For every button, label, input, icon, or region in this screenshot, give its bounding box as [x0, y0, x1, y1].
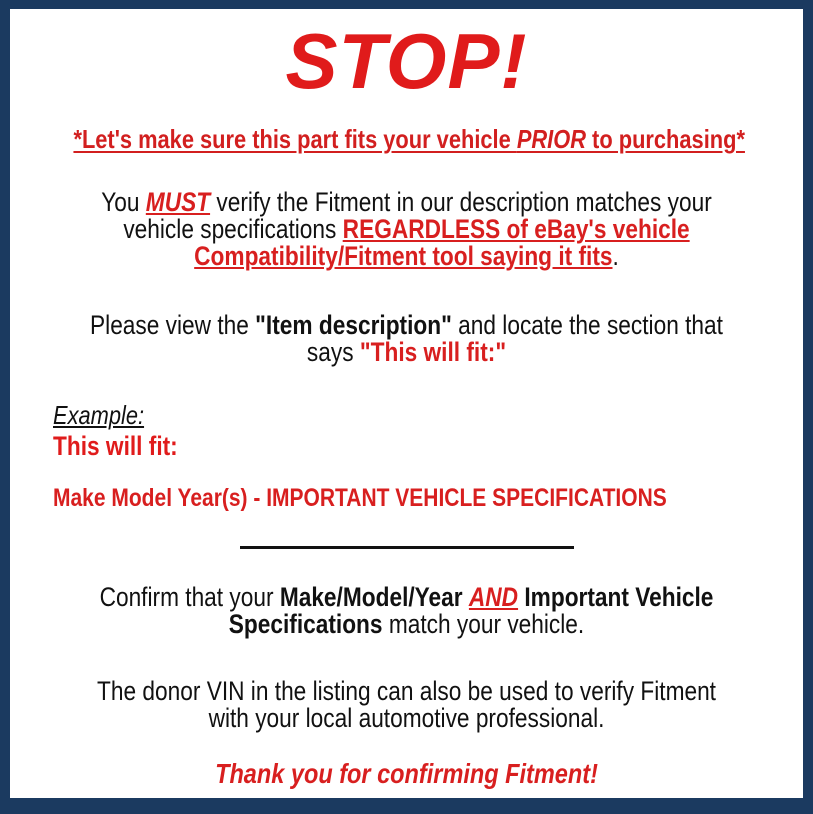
para-must-seg1: You	[101, 187, 146, 217]
subtitle-line: *Let's make sure this part fits your veh…	[73, 124, 739, 155]
fitment-notice-frame: STOP! *Let's make sure this part fits yo…	[0, 0, 813, 814]
para-view-seg1: Please view the	[90, 310, 255, 340]
para-confirm-important-vehicle: Important Vehicle	[524, 582, 713, 612]
example-spec-line: Make Model Year(s) - IMPORTANT VEHICLE S…	[53, 484, 683, 513]
example-spec-wrap: Make Model Year(s) - IMPORTANT VEHICLE S…	[53, 484, 803, 513]
example-label: Example:	[53, 402, 683, 429]
thank-you-line: Thank you for confirming Fitment!	[10, 758, 803, 790]
example-willfit-wrap: This will fit:	[53, 431, 803, 462]
para-must-seg4: vehicle specifications	[123, 214, 342, 244]
paragraph-item-description: Please view the "Item description" and l…	[10, 312, 803, 366]
subtitle-emphasis-prior: PRIOR	[517, 124, 586, 154]
notice-card: STOP! *Let's make sure this part fits yo…	[10, 9, 803, 798]
para-must-seg3: verify the Fitment in our description ma…	[210, 187, 712, 217]
para-view-seg3: and locate the section that	[452, 310, 723, 340]
para-confirm-line-1: Confirm that your Make/Model/Year AND Im…	[24, 584, 789, 611]
subtitle-suffix: to purchasing*	[586, 124, 745, 154]
para-view-line-2: says "This will fit:"	[24, 339, 789, 366]
para-vin-line-2: with your local automotive professional.	[24, 705, 789, 732]
para-view-line-1: Please view the "Item description" and l…	[24, 312, 789, 339]
paragraph-donor-vin: The donor VIN in the listing can also be…	[10, 678, 803, 732]
para-vin-text-2: with your local automotive professional.	[85, 705, 728, 732]
divider	[10, 536, 803, 554]
para-must-line-3: Compatibility/Fitment tool saying it fit…	[24, 243, 789, 270]
subtitle-prefix: *Let's make sure this part fits your veh…	[73, 124, 516, 154]
example-block: Example: This will fit: Make Model Year(…	[10, 402, 803, 513]
paragraph-confirm: Confirm that your Make/Model/Year AND Im…	[10, 584, 803, 638]
stop-headline-text: STOP!	[286, 17, 528, 105]
para-must-regardless: REGARDLESS of eBay's vehicle	[343, 214, 690, 244]
para-confirm-seg6: match your vehicle.	[383, 609, 585, 639]
para-confirm-make-model-year: Make/Model/Year	[280, 582, 463, 612]
para-must-emphasis-must: MUST	[146, 187, 210, 217]
para-confirm-specifications: Specifications	[229, 609, 383, 639]
para-vin-text-1: The donor VIN in the listing can also be…	[85, 678, 728, 705]
para-must-line-2: vehicle specifications REGARDLESS of eBa…	[24, 216, 789, 243]
para-must-compatibility: Compatibility/Fitment tool saying it fit…	[194, 241, 612, 271]
example-this-will-fit: This will fit:	[53, 431, 683, 462]
para-view-item-description: "Item description"	[255, 310, 452, 340]
para-vin-line-1: The donor VIN in the listing can also be…	[24, 678, 789, 705]
para-view-seg4: says	[307, 337, 360, 367]
divider-rule	[240, 546, 574, 549]
para-must-line-1: You MUST verify the Fitment in our descr…	[24, 189, 789, 216]
thank-you-text: Thank you for confirming Fitment!	[73, 758, 739, 790]
paragraph-must-verify: You MUST verify the Fitment in our descr…	[10, 189, 803, 270]
example-label-wrap: Example:	[53, 402, 803, 429]
para-confirm-seg1: Confirm that your	[100, 582, 280, 612]
para-confirm-and: AND	[469, 582, 518, 612]
stop-headline: STOP!	[10, 9, 803, 100]
para-confirm-line-2: Specifications match your vehicle.	[24, 611, 789, 638]
subtitle-banner: *Let's make sure this part fits your veh…	[10, 124, 803, 155]
para-must-period: .	[613, 241, 619, 271]
para-view-this-will-fit: "This will fit:"	[360, 337, 506, 367]
